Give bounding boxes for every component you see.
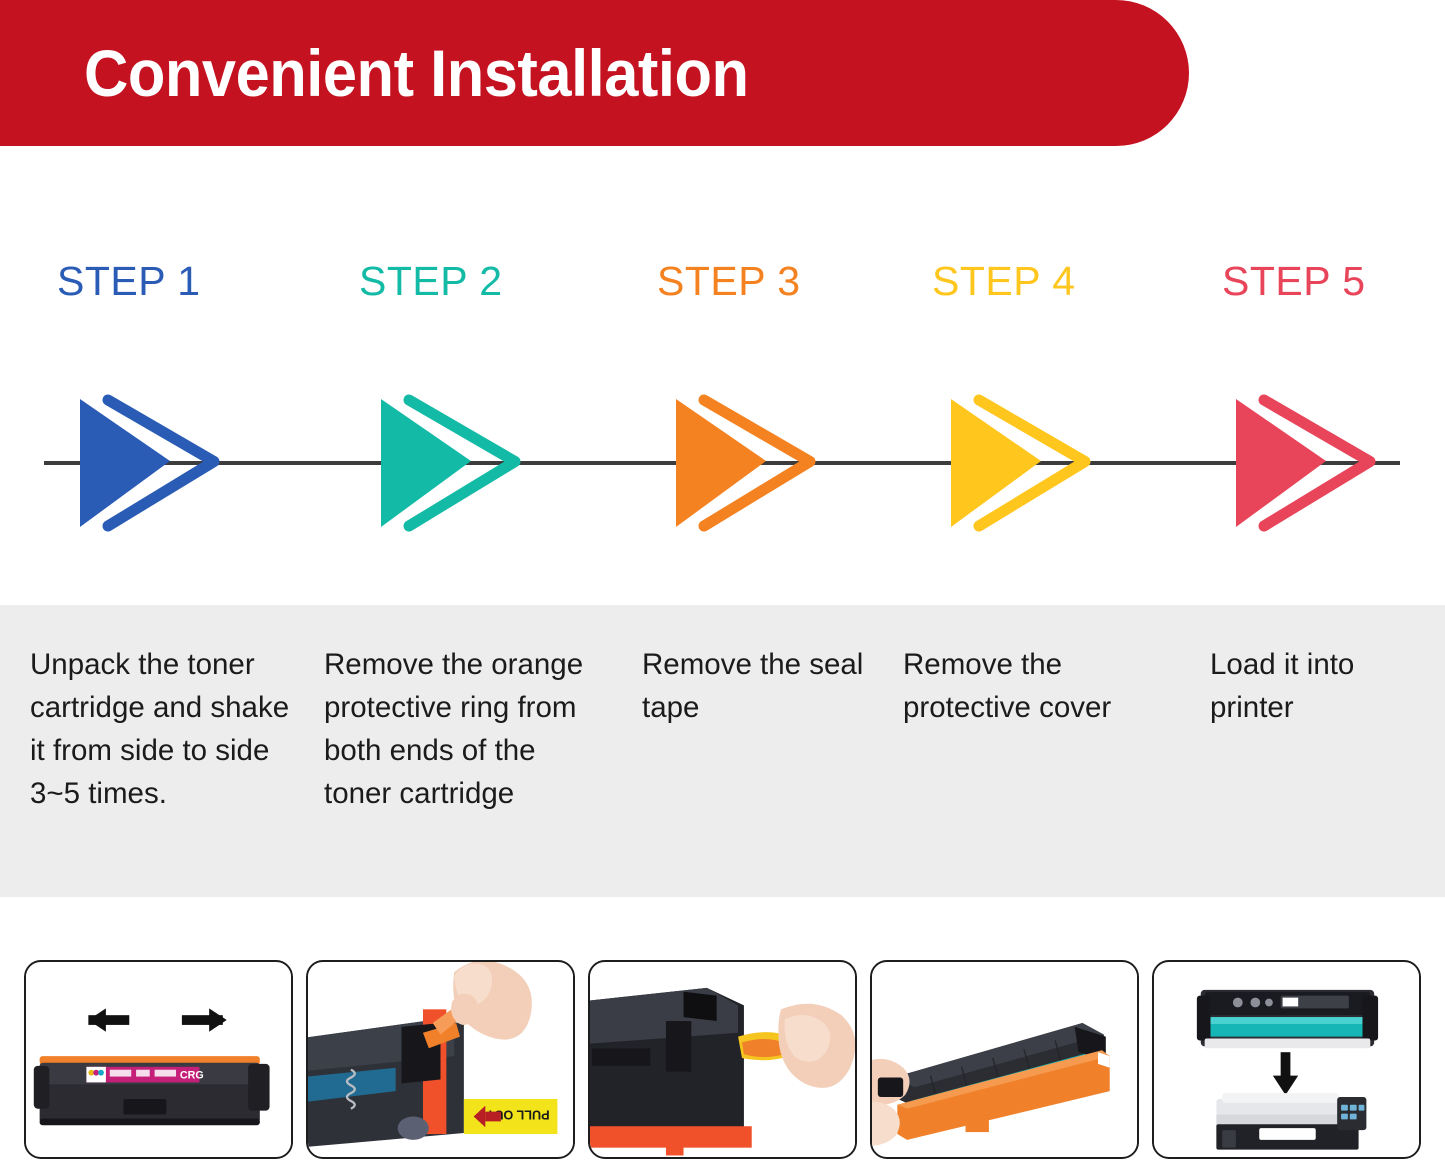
step-description-2: Remove the orange protective ring from b… bbox=[324, 643, 602, 815]
photo-card-row: CRG bbox=[0, 960, 1445, 1165]
arrow-right-icon bbox=[670, 393, 822, 533]
photo-remove-protective-cover bbox=[870, 960, 1139, 1159]
step-description-4: Remove the protective cover bbox=[903, 643, 1165, 729]
arrow-right-icon bbox=[375, 393, 527, 533]
svg-text:CRG: CRG bbox=[180, 1069, 204, 1081]
photo-remove-orange-ring: PULL OUT bbox=[306, 960, 575, 1159]
step-description-1: Unpack the toner cartridge and shake it … bbox=[30, 643, 292, 815]
arrow-right-icon bbox=[1230, 393, 1382, 533]
arrow-right-icon bbox=[945, 393, 1097, 533]
photo-remove-seal-tape bbox=[588, 960, 857, 1159]
arrow-right-icon bbox=[74, 393, 226, 533]
page-title: Convenient Installation bbox=[84, 35, 749, 111]
photo-load-into-printer bbox=[1152, 960, 1421, 1159]
header-banner: Convenient Installation bbox=[0, 0, 1189, 146]
step-arrow-row bbox=[0, 150, 1445, 605]
step-description-5: Load it into printer bbox=[1210, 643, 1420, 729]
photo-shake-cartridge: CRG bbox=[24, 960, 293, 1159]
step-description-3: Remove the seal tape bbox=[642, 643, 872, 729]
steps-timeline: STEP 1 STEP 2 STEP 3 STEP 4 STEP 5 bbox=[0, 150, 1445, 605]
step-description-band: Unpack the toner cartridge and shake it … bbox=[0, 605, 1445, 897]
infographic-page: Convenient Installation STEP 1 STEP 2 ST… bbox=[0, 0, 1445, 1171]
